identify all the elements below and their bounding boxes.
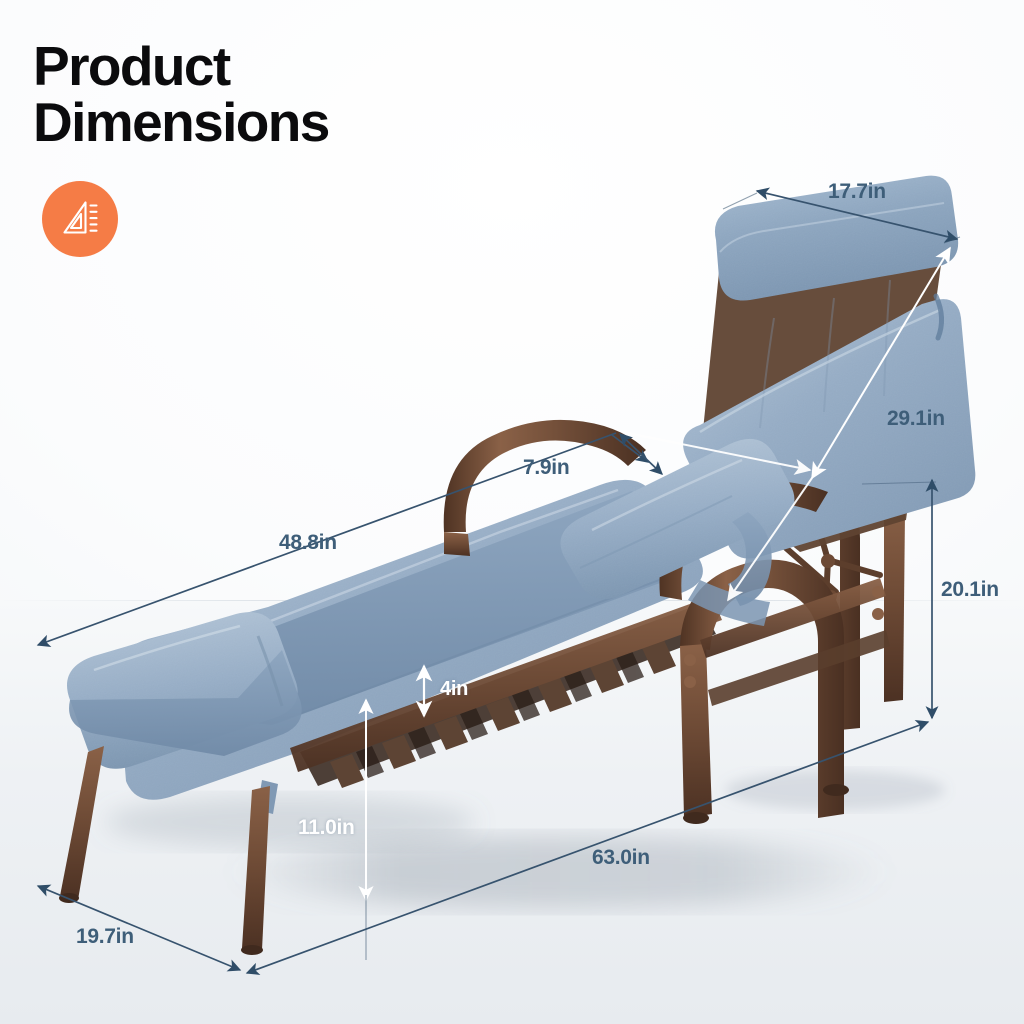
dimension-label-overall-width: 19.7in — [76, 925, 134, 949]
seat-depth-guide-line — [622, 432, 810, 470]
dimension-label-seat-length: 48.8in — [279, 531, 337, 555]
floor-surface — [0, 600, 1024, 1024]
dimension-line-backrest-height — [812, 248, 950, 478]
product-dimensions-infographic: Product Dimensions — [0, 0, 1024, 1024]
page-title: Product Dimensions — [33, 38, 329, 150]
ruler-triangle-icon-badge — [42, 181, 118, 257]
dimension-line-armrest-depth — [620, 434, 662, 474]
dimension-label-overall-length: 63.0in — [592, 846, 650, 870]
ruler-triangle-icon — [58, 197, 102, 241]
dimension-label-backrest-width: 17.7in — [828, 180, 886, 204]
dimension-label-cushion-thickness: 4in — [440, 678, 468, 701]
dimension-label-armrest-depth: 7.9in — [523, 456, 569, 480]
dimension-label-backrest-height: 29.1in — [887, 407, 945, 431]
floor-horizon-line — [0, 600, 1024, 601]
dimension-label-seat-height: 11.0in — [298, 816, 355, 840]
dimension-label-armrest-height: 20.1in — [941, 578, 999, 602]
